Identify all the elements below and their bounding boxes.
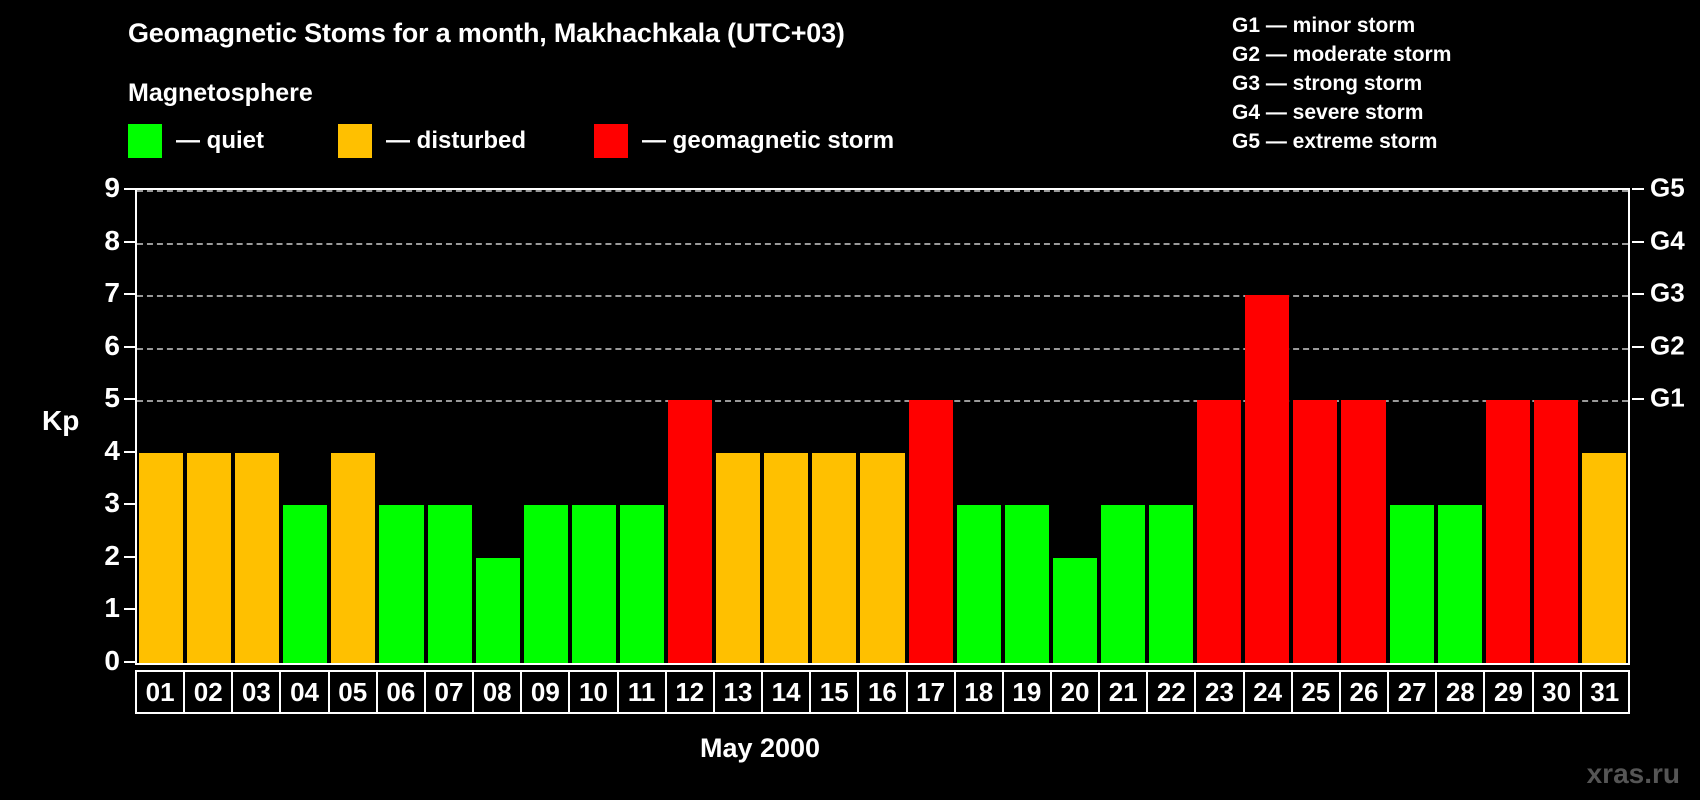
bar-day-09[interactable] (524, 505, 568, 663)
g-tick-mark-G3 (1632, 293, 1644, 295)
bar-day-26[interactable] (1341, 400, 1385, 663)
day-label-30[interactable]: 30 (1534, 672, 1582, 712)
y-tick-mark-9 (124, 188, 135, 190)
y-tick-mark-8 (124, 241, 135, 243)
quiet-swatch-icon (128, 124, 162, 158)
page-title: Geomagnetic Stoms for a month, Makhachka… (128, 18, 845, 49)
y-axis-labels: 0123456789 (78, 188, 120, 665)
disturbed-swatch-icon (338, 124, 372, 158)
y-tick-label-2: 2 (78, 540, 120, 572)
bar-day-25[interactable] (1293, 400, 1337, 663)
y-tick-mark-1 (124, 608, 135, 610)
bar-day-10[interactable] (572, 505, 616, 663)
y-tick-mark-2 (124, 556, 135, 558)
magnetosphere-legend: — quiet — disturbed — geomagnetic storm (128, 122, 894, 160)
day-label-12[interactable]: 12 (667, 672, 715, 712)
day-label-07[interactable]: 07 (426, 672, 474, 712)
magnetosphere-label: Magnetosphere (128, 79, 313, 108)
legend-label-storm: — geomagnetic storm (642, 127, 894, 155)
bar-day-03[interactable] (235, 453, 279, 663)
bar-day-19[interactable] (1005, 505, 1049, 663)
g-axis-label-G4: G4 (1650, 225, 1685, 256)
bar-day-11[interactable] (620, 505, 664, 663)
gscale-axis: G1G2G3G4G5 (1632, 188, 1698, 665)
y-tick-label-7: 7 (78, 277, 120, 309)
bar-day-23[interactable] (1197, 400, 1241, 663)
day-label-15[interactable]: 15 (811, 672, 859, 712)
day-label-29[interactable]: 29 (1485, 672, 1533, 712)
day-label-06[interactable]: 06 (378, 672, 426, 712)
day-label-25[interactable]: 25 (1293, 672, 1341, 712)
y-tick-label-6: 6 (78, 330, 120, 362)
bar-day-30[interactable] (1534, 400, 1578, 663)
y-tick-label-5: 5 (78, 382, 120, 414)
legend-label-quiet: — quiet (176, 127, 264, 155)
y-tick-label-4: 4 (78, 435, 120, 467)
bar-day-14[interactable] (764, 453, 808, 663)
day-label-04[interactable]: 04 (281, 672, 329, 712)
legend-item-quiet: — quiet (128, 122, 264, 160)
day-label-18[interactable]: 18 (956, 672, 1004, 712)
gscale-line-g2: G2 — moderate storm (1232, 40, 1451, 69)
bar-day-05[interactable] (331, 453, 375, 663)
y-tick-mark-3 (124, 503, 135, 505)
bar-day-17[interactable] (909, 400, 953, 663)
bar-day-13[interactable] (716, 453, 760, 663)
x-axis-title: May 2000 (0, 733, 1700, 764)
day-label-02[interactable]: 02 (185, 672, 233, 712)
y-tick-label-8: 8 (78, 225, 120, 257)
bar-day-06[interactable] (379, 505, 423, 663)
bar-day-07[interactable] (428, 505, 472, 663)
day-label-26[interactable]: 26 (1341, 672, 1389, 712)
y-tick-label-9: 9 (78, 172, 120, 204)
gscale-line-g3: G3 — strong storm (1232, 69, 1451, 98)
bar-day-31[interactable] (1582, 453, 1626, 663)
bar-day-22[interactable] (1149, 505, 1193, 663)
g-axis-label-G5: G5 (1650, 173, 1685, 204)
day-label-05[interactable]: 05 (330, 672, 378, 712)
chart-page: Geomagnetic Stoms for a month, Makhachka… (0, 0, 1700, 800)
g-axis-label-G3: G3 (1650, 278, 1685, 309)
bar-day-04[interactable] (283, 505, 327, 663)
g-tick-mark-G2 (1632, 346, 1644, 348)
y-tick-mark-6 (124, 346, 135, 348)
day-label-19[interactable]: 19 (1004, 672, 1052, 712)
bar-day-20[interactable] (1053, 558, 1097, 663)
day-label-13[interactable]: 13 (715, 672, 763, 712)
g-tick-mark-G5 (1632, 188, 1644, 190)
bar-day-16[interactable] (860, 453, 904, 663)
day-label-24[interactable]: 24 (1245, 672, 1293, 712)
y-tick-mark-4 (124, 451, 135, 453)
g-axis-label-G1: G1 (1650, 383, 1685, 414)
gscale-legend: G1 — minor storm G2 — moderate storm G3 … (1232, 11, 1451, 156)
day-label-09[interactable]: 09 (522, 672, 570, 712)
bar-day-01[interactable] (139, 453, 183, 663)
y-tick-label-3: 3 (78, 487, 120, 519)
day-label-20[interactable]: 20 (1052, 672, 1100, 712)
bar-day-21[interactable] (1101, 505, 1145, 663)
day-label-22[interactable]: 22 (1148, 672, 1196, 712)
day-label-21[interactable]: 21 (1100, 672, 1148, 712)
g-tick-mark-G1 (1632, 398, 1644, 400)
bar-day-18[interactable] (957, 505, 1001, 663)
bar-day-27[interactable] (1390, 505, 1434, 663)
legend-item-disturbed: — disturbed (338, 122, 526, 160)
gscale-line-g5: G5 — extreme storm (1232, 127, 1451, 156)
gscale-line-g1: G1 — minor storm (1232, 11, 1451, 40)
storm-swatch-icon (594, 124, 628, 158)
y-tick-mark-0 (124, 661, 135, 663)
bar-day-02[interactable] (187, 453, 231, 663)
bars-layer (137, 190, 1628, 663)
day-label-28[interactable]: 28 (1437, 672, 1485, 712)
bar-day-08[interactable] (476, 558, 520, 663)
gscale-line-g4: G4 — severe storm (1232, 98, 1451, 127)
day-label-08[interactable]: 08 (474, 672, 522, 712)
day-label-03[interactable]: 03 (233, 672, 281, 712)
day-label-14[interactable]: 14 (763, 672, 811, 712)
bar-day-12[interactable] (668, 400, 712, 663)
y-tick-mark-7 (124, 293, 135, 295)
y-tick-label-1: 1 (78, 592, 120, 624)
day-label-11[interactable]: 11 (619, 672, 667, 712)
bar-day-29[interactable] (1486, 400, 1530, 663)
day-label-01[interactable]: 01 (137, 672, 185, 712)
day-label-10[interactable]: 10 (570, 672, 618, 712)
bar-day-28[interactable] (1438, 505, 1482, 663)
day-label-27[interactable]: 27 (1389, 672, 1437, 712)
watermark: xras.ru (1587, 758, 1680, 790)
g-tick-mark-G4 (1632, 241, 1644, 243)
legend-label-disturbed: — disturbed (386, 127, 526, 155)
y-tick-mark-5 (124, 398, 135, 400)
legend-item-storm: — geomagnetic storm (594, 122, 894, 160)
day-label-17[interactable]: 17 (908, 672, 956, 712)
day-label-31[interactable]: 31 (1582, 672, 1628, 712)
g-axis-label-G2: G2 (1650, 330, 1685, 361)
day-label-23[interactable]: 23 (1196, 672, 1244, 712)
y-tick-label-0: 0 (78, 645, 120, 677)
bar-day-24[interactable] (1245, 295, 1289, 663)
x-axis-day-boxes: 0102030405060708091011121314151617181920… (135, 670, 1630, 714)
bar-day-15[interactable] (812, 453, 856, 663)
day-label-16[interactable]: 16 (859, 672, 907, 712)
